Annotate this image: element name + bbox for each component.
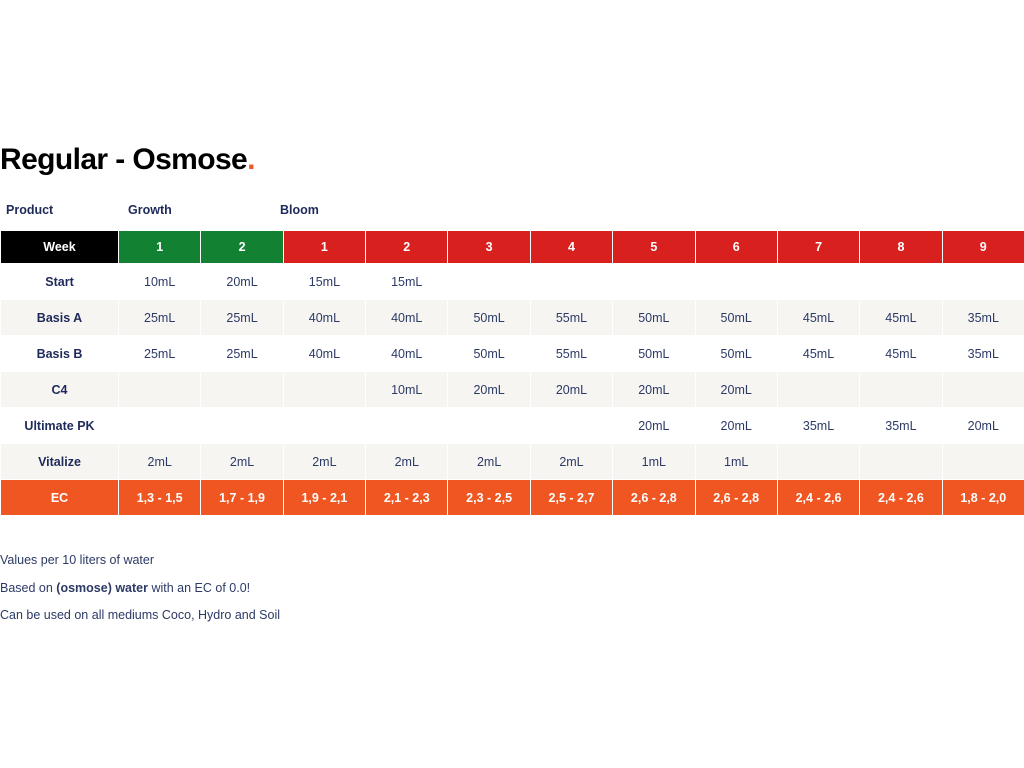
nutrient-schedule-page: Regular - Osmose. Product Growth Bloom W… (0, 0, 1024, 768)
table-cell (942, 372, 1024, 408)
table-cell: 40mL (283, 336, 365, 372)
table-cell (366, 408, 448, 444)
header-week-bloom-4: 4 (530, 231, 612, 264)
table-cell-ec: 1,3 - 1,5 (119, 480, 201, 516)
table-cell (119, 408, 201, 444)
feeding-schedule-table: Week 12123456789 Start10mL20mL15mL15mLBa… (0, 230, 1024, 516)
footnote-2-prefix: Based on (0, 581, 56, 595)
table-cell: 35mL (942, 336, 1024, 372)
table-cell: 2mL (201, 444, 283, 480)
table-cell: 1mL (695, 444, 777, 480)
table-cell-ec: 1,7 - 1,9 (201, 480, 283, 516)
table-cell: 50mL (613, 336, 695, 372)
table-cell: 45mL (777, 300, 859, 336)
footnote-2-bold: (osmose) water (56, 581, 148, 595)
table-row: Vitalize2mL2mL2mL2mL2mL2mL1mL1mL (1, 444, 1024, 480)
table-cell: 50mL (448, 336, 530, 372)
table-cell (613, 264, 695, 300)
table-cell (119, 372, 201, 408)
table-cell: 2mL (366, 444, 448, 480)
table-cell: 15mL (283, 264, 365, 300)
table-cell (201, 408, 283, 444)
footnote-2-suffix: with an EC of 0.0! (148, 581, 250, 595)
row-label: Basis B (1, 336, 119, 372)
table-cell-ec: 1,8 - 2,0 (942, 480, 1024, 516)
table-body: Start10mL20mL15mL15mLBasis A25mL25mL40mL… (1, 264, 1024, 516)
table-cell: 35mL (860, 408, 942, 444)
row-label-ec: EC (1, 480, 119, 516)
phase-label-product: Product (6, 203, 53, 217)
table-cell-ec: 2,5 - 2,7 (530, 480, 612, 516)
page-title-text: Regular - Osmose (0, 143, 247, 176)
table-cell: 2mL (283, 444, 365, 480)
row-label: Start (1, 264, 119, 300)
table-cell: 15mL (366, 264, 448, 300)
table-cell: 20mL (201, 264, 283, 300)
table-cell (530, 264, 612, 300)
table-cell: 10mL (366, 372, 448, 408)
header-week-bloom-6: 6 (695, 231, 777, 264)
table-cell (942, 264, 1024, 300)
row-label: C4 (1, 372, 119, 408)
table-cell (942, 444, 1024, 480)
header-week-bloom-9: 9 (942, 231, 1024, 264)
table-cell: 25mL (201, 336, 283, 372)
footnote-line-2: Based on (osmose) water with an EC of 0.… (0, 575, 700, 603)
table-row: C410mL20mL20mL20mL20mL (1, 372, 1024, 408)
footnote-line-1: Values per 10 liters of water (0, 547, 700, 575)
table-header-row: Week 12123456789 (1, 231, 1024, 264)
table-cell: 55mL (530, 336, 612, 372)
table-cell: 25mL (201, 300, 283, 336)
table-cell (283, 408, 365, 444)
header-week-growth-2: 2 (201, 231, 283, 264)
table-cell-ec: 2,4 - 2,6 (860, 480, 942, 516)
phase-label-bloom: Bloom (280, 203, 319, 217)
phase-label-growth: Growth (128, 203, 172, 217)
table-cell-ec: 2,1 - 2,3 (366, 480, 448, 516)
table-cell (860, 444, 942, 480)
table-cell (777, 264, 859, 300)
header-week-bloom-3: 3 (448, 231, 530, 264)
header-week-bloom-2: 2 (366, 231, 448, 264)
table-cell: 45mL (777, 336, 859, 372)
table-cell: 45mL (860, 336, 942, 372)
table-cell: 20mL (613, 372, 695, 408)
table-cell: 35mL (942, 300, 1024, 336)
table-cell-ec: 2,6 - 2,8 (695, 480, 777, 516)
table-cell: 40mL (366, 336, 448, 372)
table-cell (777, 444, 859, 480)
title-accent-dot: . (247, 143, 255, 176)
table-cell: 25mL (119, 336, 201, 372)
table-cell (448, 408, 530, 444)
table-cell: 2mL (530, 444, 612, 480)
table-cell: 50mL (448, 300, 530, 336)
row-label: Vitalize (1, 444, 119, 480)
header-week-bloom-8: 8 (860, 231, 942, 264)
table-cell: 40mL (283, 300, 365, 336)
table-cell: 50mL (695, 300, 777, 336)
table-cell-ec: 2,6 - 2,8 (613, 480, 695, 516)
page-title: Regular - Osmose. (0, 143, 255, 177)
table-row: Basis B25mL25mL40mL40mL50mL55mL50mL50mL4… (1, 336, 1024, 372)
phase-label-strip: Product Growth Bloom (0, 203, 1024, 228)
table-cell: 20mL (695, 372, 777, 408)
header-week-bloom-7: 7 (777, 231, 859, 264)
table-cell: 50mL (613, 300, 695, 336)
table-row-ec: EC1,3 - 1,51,7 - 1,91,9 - 2,12,1 - 2,32,… (1, 480, 1024, 516)
table-cell-ec: 1,9 - 2,1 (283, 480, 365, 516)
table-row: Basis A25mL25mL40mL40mL50mL55mL50mL50mL4… (1, 300, 1024, 336)
table-cell (530, 408, 612, 444)
header-week-bloom-5: 5 (613, 231, 695, 264)
table-cell (860, 372, 942, 408)
table-cell (777, 372, 859, 408)
table-cell (860, 264, 942, 300)
table-cell: 25mL (119, 300, 201, 336)
table-cell: 1mL (613, 444, 695, 480)
table-cell: 45mL (860, 300, 942, 336)
table-row: Start10mL20mL15mL15mL (1, 264, 1024, 300)
table-cell-ec: 2,3 - 2,5 (448, 480, 530, 516)
footnotes: Values per 10 liters of water Based on (… (0, 547, 700, 630)
row-label: Ultimate PK (1, 408, 119, 444)
table-cell: 40mL (366, 300, 448, 336)
header-week-corner: Week (1, 231, 119, 264)
table-cell: 10mL (119, 264, 201, 300)
table-cell (448, 264, 530, 300)
table-cell: 20mL (448, 372, 530, 408)
table-cell: 20mL (695, 408, 777, 444)
table-cell: 20mL (942, 408, 1024, 444)
table-cell (283, 372, 365, 408)
table-cell (695, 264, 777, 300)
table-cell (201, 372, 283, 408)
table-row: Ultimate PK20mL20mL35mL35mL20mL (1, 408, 1024, 444)
header-week-bloom-1: 1 (283, 231, 365, 264)
table-cell: 20mL (613, 408, 695, 444)
table-cell-ec: 2,4 - 2,6 (777, 480, 859, 516)
table-cell: 2mL (448, 444, 530, 480)
table-cell: 50mL (695, 336, 777, 372)
table-cell: 55mL (530, 300, 612, 336)
header-week-growth-1: 1 (119, 231, 201, 264)
table-cell: 2mL (119, 444, 201, 480)
row-label: Basis A (1, 300, 119, 336)
table-cell: 35mL (777, 408, 859, 444)
footnote-line-3: Can be used on all mediums Coco, Hydro a… (0, 602, 700, 630)
table-cell: 20mL (530, 372, 612, 408)
